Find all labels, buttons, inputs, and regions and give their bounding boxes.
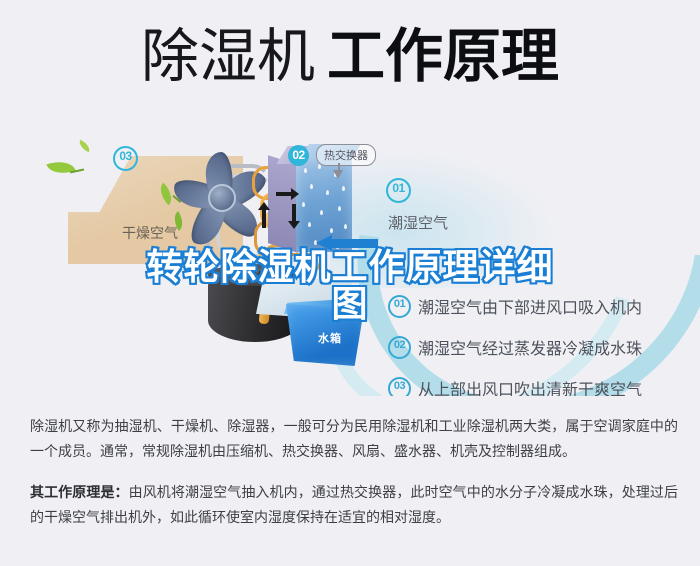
compressor-label: 压缩机 xyxy=(236,268,268,283)
legend-badge-01: 01 xyxy=(388,295,411,318)
flow-arrow-icon xyxy=(262,210,266,228)
paragraph-2: 其工作原理是：由风机将潮湿空气抽入机内，通过热交换器，此时空气中的水分子冷凝成水… xyxy=(30,480,678,530)
page-title: 除湿机工作原理 xyxy=(0,28,700,86)
poster-root: 除湿机工作原理 xyxy=(0,0,700,566)
flow-arrow-icon xyxy=(276,192,292,196)
page-title-light: 除湿机 xyxy=(141,24,315,89)
leaf-icon xyxy=(46,156,75,178)
legend-item: 02 潮湿空气经过蒸发器冷凝成水珠 xyxy=(388,335,688,359)
fan-hub-icon xyxy=(208,184,236,212)
flow-arrow-head-icon xyxy=(288,221,300,229)
intake-air-arrow-icon xyxy=(316,235,378,251)
legend-badge-03: 03 xyxy=(388,377,411,397)
marker-badge-03: 03 xyxy=(113,146,138,171)
flow-arrow-head-icon xyxy=(291,188,299,200)
legend-text-01: 潮湿空气由下部进风口吸入机内 xyxy=(418,294,642,318)
flow-arrow-icon xyxy=(292,204,296,222)
callout-tail-icon xyxy=(333,170,343,179)
flow-arrow-head-icon xyxy=(258,202,270,210)
marker-badge-02: 02 xyxy=(288,145,309,166)
legend-badge-02: 02 xyxy=(388,336,411,359)
page-title-bold: 工作原理 xyxy=(327,24,559,89)
paragraph-1: 除湿机又称为抽湿机、干燥机、除湿器，一般可分为民用除湿机和工业除湿机两大类，属于… xyxy=(30,414,678,464)
legend-item: 01 潮湿空气由下部进风口吸入机内 xyxy=(388,294,688,318)
heat-exchanger-callout: 热交换器 xyxy=(316,144,376,166)
article-body: 除湿机又称为抽湿机、干燥机、除湿器，一般可分为民用除湿机和工业除湿机两大类，属于… xyxy=(30,414,678,546)
dehumidifier-diagram: 压缩机 水箱 02 热交换器 01 潮湿空气 03 干燥空气 01 潮湿空气由下… xyxy=(0,118,700,396)
marker-badge-01: 01 xyxy=(386,178,411,203)
humid-air-label: 潮湿空气 xyxy=(388,212,448,233)
legend-item: 03 从上部出风口吹出清新干爽空气 xyxy=(388,376,688,396)
legend-text-03: 从上部出风口吹出清新干爽空气 xyxy=(418,376,642,396)
legend-text-02: 潮湿空气经过蒸发器冷凝成水珠 xyxy=(418,335,642,359)
water-tank-label: 水箱 xyxy=(318,330,342,346)
leaf-icon xyxy=(77,140,92,153)
legend-list: 01 潮湿空气由下部进风口吸入机内 02 潮湿空气经过蒸发器冷凝成水珠 03 从… xyxy=(388,294,688,396)
paragraph-2-lead: 其工作原理是： xyxy=(30,484,129,500)
dry-air-label: 干燥空气 xyxy=(122,223,178,243)
